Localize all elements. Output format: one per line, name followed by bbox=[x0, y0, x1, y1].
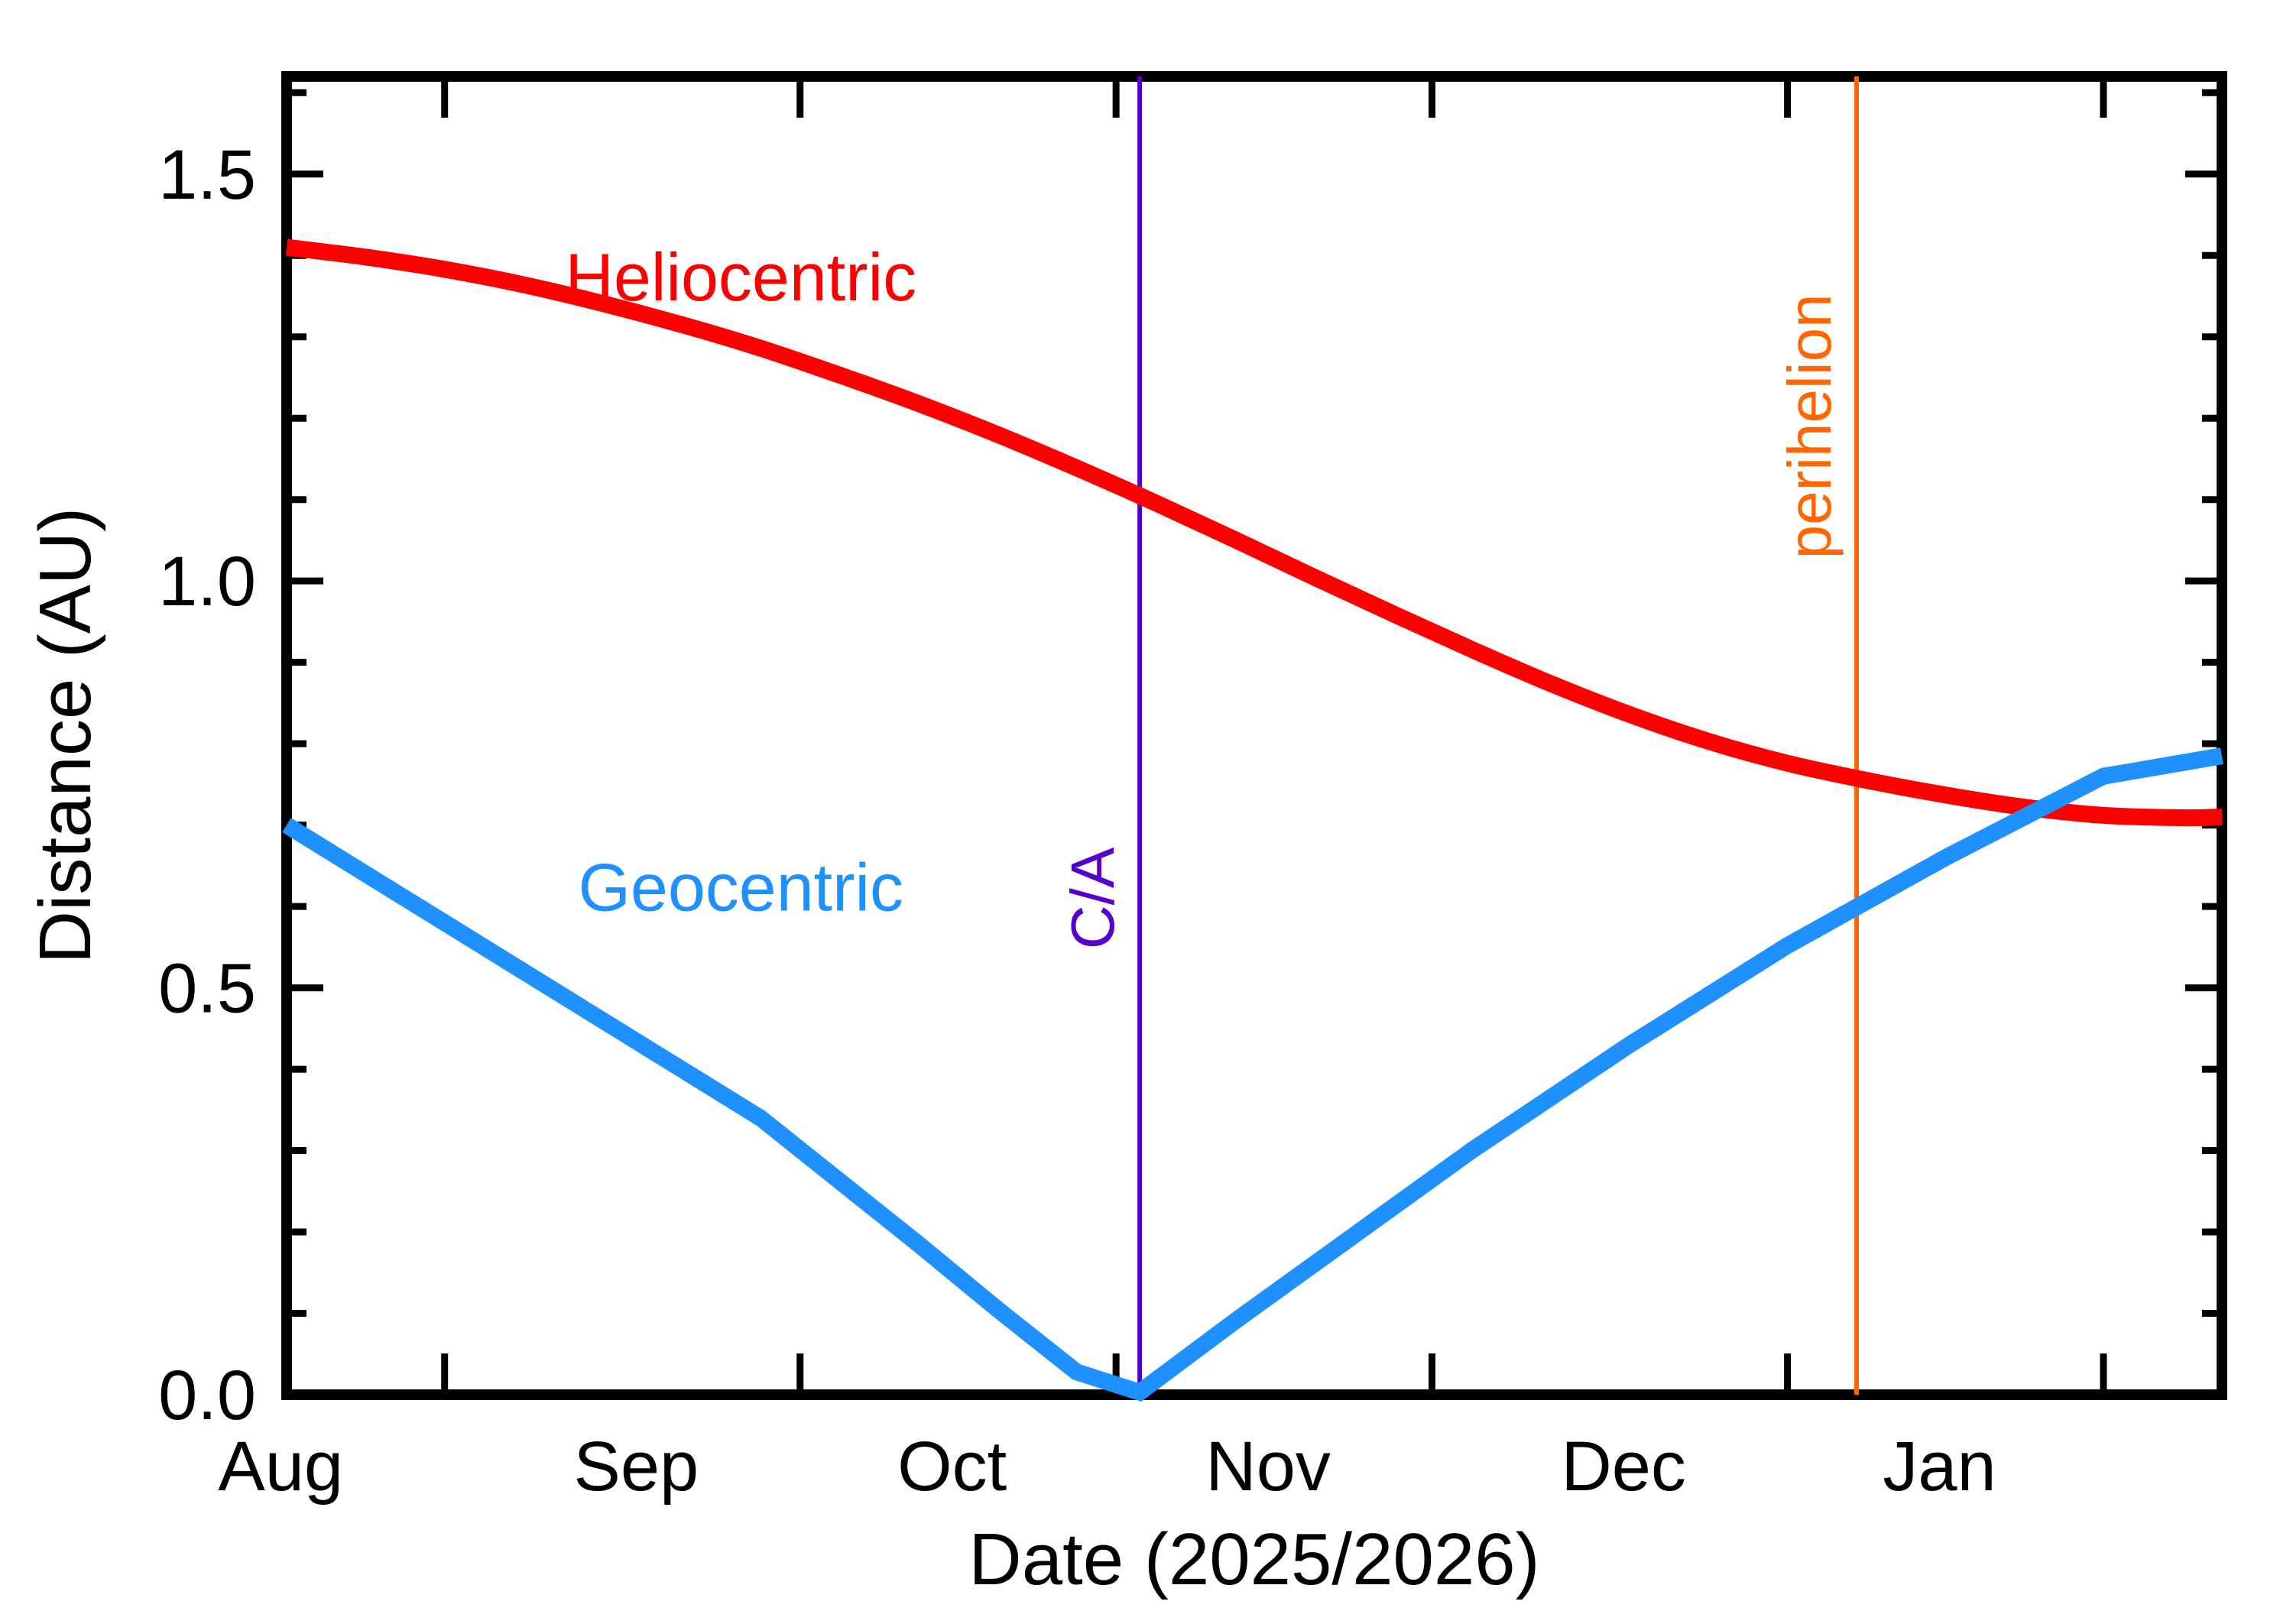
y-axis-title: Distance (AU) bbox=[24, 507, 106, 964]
x-tick-label: Sep bbox=[573, 1428, 699, 1506]
x-tick-label: Nov bbox=[1205, 1428, 1331, 1506]
x-axis-title: Date (2025/2026) bbox=[968, 1519, 1539, 1600]
series-label-geocentric: Geocentric bbox=[578, 849, 903, 925]
x-tick-label: Oct bbox=[897, 1428, 1007, 1506]
y-tick-label: 0.5 bbox=[158, 950, 256, 1028]
x-tick-label: Aug bbox=[218, 1428, 343, 1506]
series-label-heliocentric: Heliocentric bbox=[565, 239, 916, 315]
annotation-label-perihelion: perihelion bbox=[1776, 293, 1844, 559]
data-series bbox=[287, 248, 2222, 1392]
y-tick-label: 1.5 bbox=[158, 136, 256, 214]
y-tick-label: 1.0 bbox=[158, 543, 256, 621]
y-tick-label: 0.0 bbox=[158, 1357, 256, 1434]
text-labels: 1.51.00.50.0AugSepOctNovDecJanDate (2025… bbox=[24, 136, 1996, 1600]
x-tick-label: Jan bbox=[1883, 1428, 1996, 1506]
distance-vs-date-chart: 1.51.00.50.0AugSepOctNovDecJanDate (2025… bbox=[0, 0, 2293, 1624]
x-tick-label: Dec bbox=[1561, 1428, 1686, 1506]
series-line-heliocentric bbox=[287, 248, 2222, 818]
annotation-lines bbox=[1140, 76, 1857, 1395]
series-line-geocentric bbox=[287, 756, 2222, 1392]
annotation-label-close-approach: C/A bbox=[1059, 847, 1127, 949]
chart-canvas: 1.51.00.50.0AugSepOctNovDecJanDate (2025… bbox=[0, 0, 2293, 1624]
